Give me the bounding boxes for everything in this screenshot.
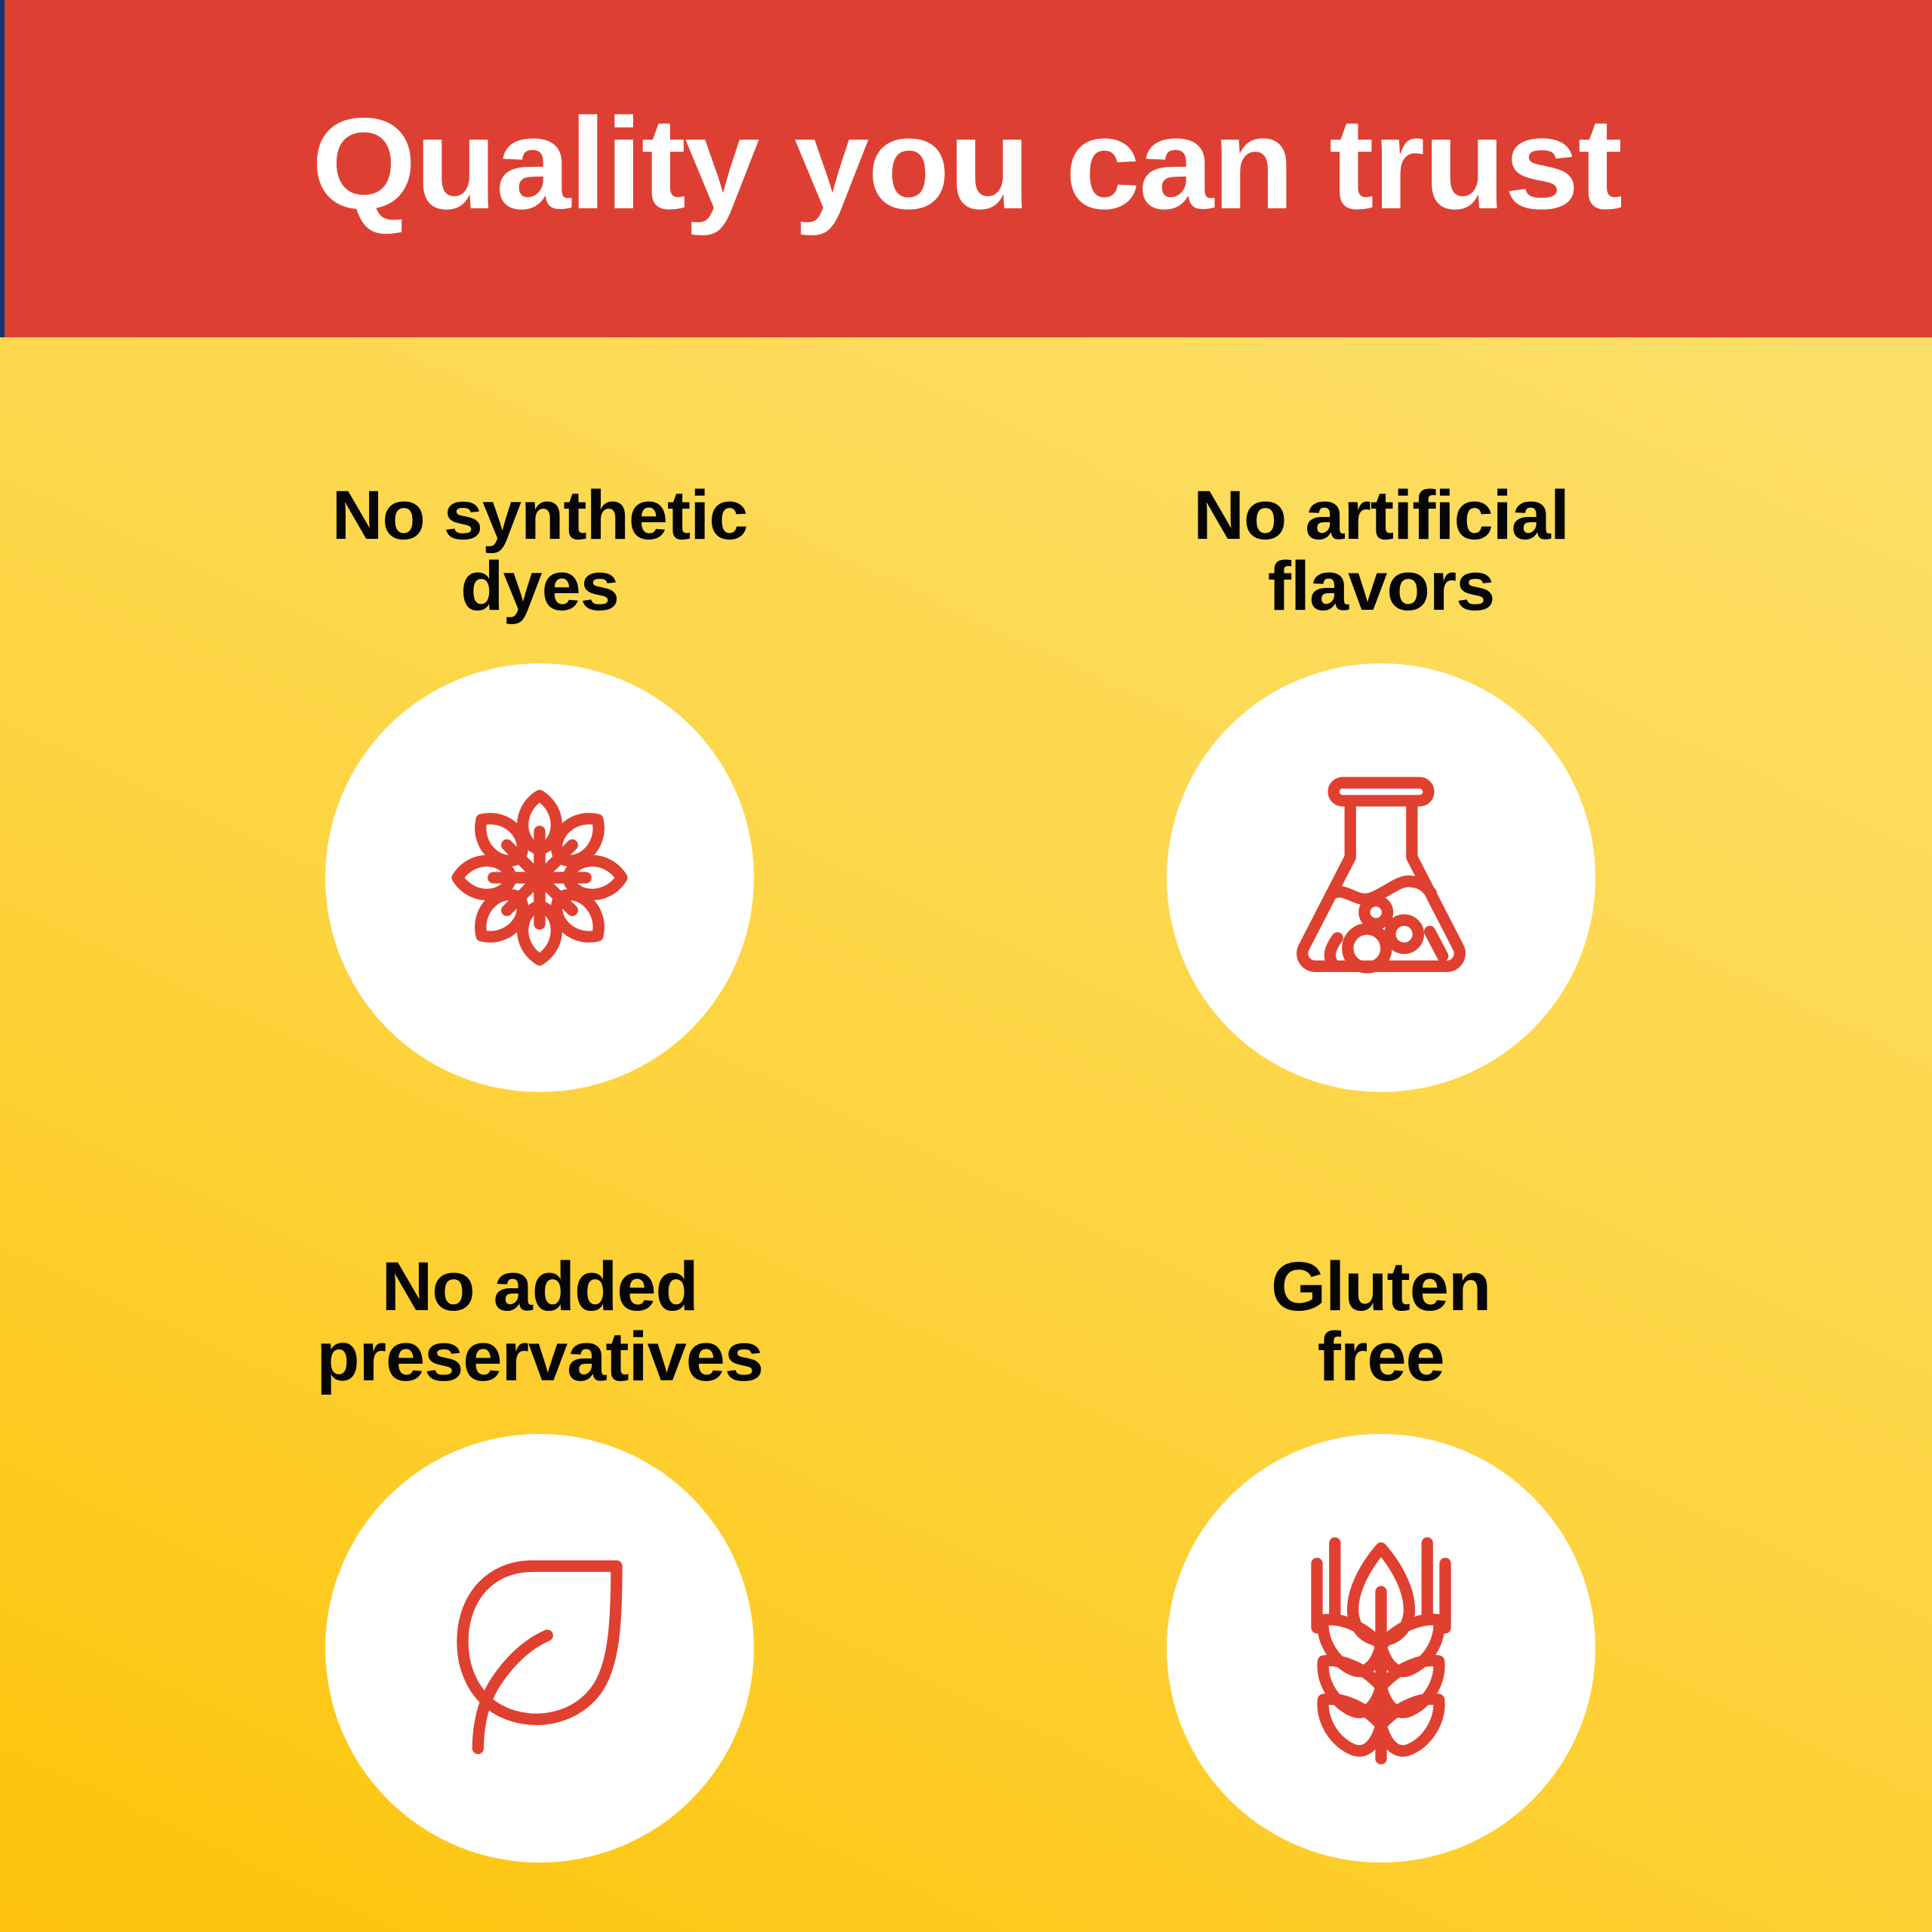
icon-disc-no-artificial-flavors (1167, 663, 1595, 1092)
feature-grid: No synthetic dyes (0, 337, 1932, 1932)
feature-no-synthetic-dyes: No synthetic dyes (0, 337, 966, 1135)
page-title: Quality you can trust (311, 99, 1621, 239)
wheat-icon (1253, 1520, 1509, 1777)
feature-label-no-synthetic-dyes: No synthetic dyes (332, 481, 748, 623)
leaf-icon (411, 1520, 668, 1777)
feature-no-artificial-flavors: No artificial flavors (966, 337, 1932, 1135)
flower-icon (411, 749, 668, 1006)
feature-no-added-preservatives: No added preservatives (0, 1135, 966, 1932)
icon-disc-no-added-preservatives (325, 1434, 754, 1863)
icon-disc-no-synthetic-dyes (325, 663, 754, 1092)
header-band: Quality you can trust (0, 0, 1932, 337)
header-edge-stripe (0, 0, 5, 337)
feature-label-no-added-preservatives: No added preservatives (316, 1252, 763, 1394)
quality-badges-poster: Quality you can trust No synthetic dyes (0, 0, 1932, 1932)
icon-disc-gluten-free (1167, 1434, 1595, 1863)
feature-label-gluten-free: Gluten free (1271, 1252, 1491, 1394)
flask-icon (1253, 749, 1509, 1006)
feature-gluten-free: Gluten free (966, 1135, 1932, 1932)
feature-label-no-artificial-flavors: No artificial flavors (1193, 481, 1569, 623)
